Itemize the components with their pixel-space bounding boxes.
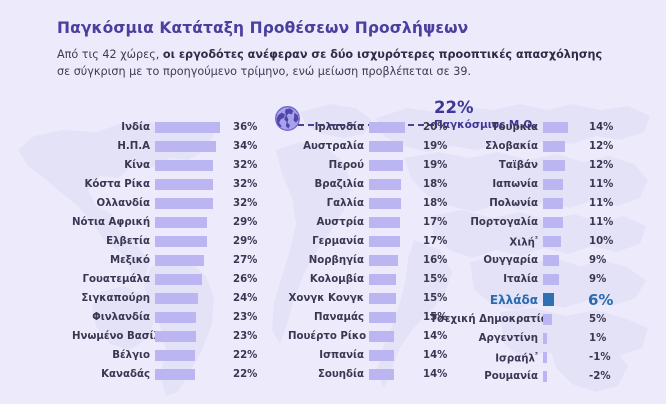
global-average-value: 22% [434, 100, 554, 117]
bar-track [155, 251, 227, 270]
ranking-column-3: Τουρκία14%Σλοβακία12%Ταϊβάν12%Ιαπωνία11%… [430, 118, 613, 386]
value-label: 11% [583, 198, 613, 209]
bar-track [155, 308, 227, 327]
ranking-row: Νορβηγία16% [288, 251, 447, 270]
ranking-column-2: Ιρλανδία20%Αυστραλία19%Περού19%Βραζιλία1… [288, 118, 447, 384]
bar-track [369, 365, 417, 384]
bar-track [369, 308, 417, 327]
ranking-row: Πουέρτο Ρίκο14% [288, 327, 447, 346]
bar-track [369, 327, 417, 346]
subtitle-line2: σε σύγκριση με το προηγούμενο τρίμηνο, ε… [57, 65, 471, 78]
country-label: Νορβηγία [288, 255, 369, 266]
bar [155, 293, 198, 304]
bar [369, 369, 394, 380]
country-label: Χονγκ Κονγκ [288, 293, 369, 304]
value-label: 6% [583, 291, 613, 309]
country-label: Ισραήλ³ [430, 351, 543, 364]
ranking-row: Βέλγιο22% [72, 346, 257, 365]
ranking-row: Ρουμανία-2% [430, 367, 613, 386]
country-label: Πολωνία [430, 198, 543, 209]
bar-track [543, 348, 583, 367]
bar [369, 198, 401, 209]
footnote-marker: ² [535, 235, 538, 243]
bar [369, 293, 396, 304]
ranking-row: Ιρλανδία20% [288, 118, 447, 137]
country-label: Ελβετία [72, 236, 155, 247]
bar-track [369, 137, 417, 156]
bar-track [543, 175, 583, 194]
ranking-row: Πολωνία11% [430, 194, 613, 213]
country-label: Γαλλία [288, 198, 369, 209]
ranking-row: Ιταλία9% [430, 270, 613, 289]
bar-track [155, 270, 227, 289]
bar [369, 255, 398, 266]
ranking-row: Σουηδία14% [288, 365, 447, 384]
bar [369, 331, 394, 342]
bar [155, 198, 213, 209]
bar [155, 350, 195, 361]
value-label: 23% [227, 312, 257, 323]
country-label: Χιλή² [430, 235, 543, 248]
bar-track [369, 194, 417, 213]
bar-track [155, 194, 227, 213]
ranking-row: Χονγκ Κονγκ15% [288, 289, 447, 308]
ranking-row: Τουρκία14% [430, 118, 613, 137]
country-label: Σουηδία [288, 369, 369, 380]
bar-track [369, 118, 417, 137]
bar [543, 217, 563, 228]
ranking-row: Φινλανδία23% [72, 308, 257, 327]
country-label: Ιαπωνία [430, 179, 543, 190]
value-label: 24% [227, 293, 257, 304]
country-label: Ταϊβάν [430, 160, 543, 171]
bar-track [543, 270, 583, 289]
bar [155, 179, 213, 190]
country-label: Κόστα Ρίκα [72, 179, 155, 190]
country-label: Ηνωμένο Βασίλειο [72, 331, 155, 342]
ranking-row: Κολομβία15% [288, 270, 447, 289]
ranking-row: Ολλανδία32% [72, 194, 257, 213]
bar [543, 236, 561, 247]
bar [155, 122, 220, 133]
country-label: Γερμανία [288, 236, 369, 247]
value-label: 32% [227, 198, 257, 209]
ranking-row: Αργεντίνη1% [430, 329, 613, 348]
bar [369, 312, 396, 323]
bar [155, 160, 213, 171]
bar [369, 217, 400, 228]
ranking-row: Γερμανία17% [288, 232, 447, 251]
bar-track [155, 137, 227, 156]
country-label: Ουγγαρία [430, 255, 543, 266]
bar-track [369, 175, 417, 194]
country-label: Φινλανδία [72, 312, 155, 323]
bar [543, 314, 552, 325]
bar-track [155, 232, 227, 251]
bar-track [155, 327, 227, 346]
bar-track [155, 175, 227, 194]
bar [543, 122, 568, 133]
value-label: 32% [227, 179, 257, 190]
bar [369, 274, 396, 285]
bar [543, 371, 547, 382]
ranking-row: Χιλή²10% [430, 232, 613, 251]
ranking-row: Καναδάς22% [72, 365, 257, 384]
bar-track [543, 310, 583, 329]
subtitle-line1-bold: οι εργοδότες ανέφεραν σε δύο ισχυρότερες… [163, 48, 602, 61]
header: Παγκόσμια Κατάταξη Προθέσεων Προσλήψεων … [57, 20, 646, 81]
bar [155, 217, 207, 228]
bar-track [543, 213, 583, 232]
country-label: Γουατεμάλα [72, 274, 155, 285]
bar-track [369, 289, 417, 308]
bar [155, 255, 204, 266]
value-label: 29% [227, 217, 257, 228]
bar [543, 333, 547, 344]
ranking-row: Ελλάδα6% [430, 289, 613, 310]
country-label: Η.Π.Α [72, 141, 155, 152]
bar-track [543, 367, 583, 386]
bar [543, 274, 559, 285]
value-label: 12% [583, 160, 613, 171]
bar [155, 236, 207, 247]
ranking-row: Ελβετία29% [72, 232, 257, 251]
value-label: 23% [227, 331, 257, 342]
ranking-row: Αυστραλία19% [288, 137, 447, 156]
bar-track [155, 365, 227, 384]
country-label: Αργεντίνη [430, 333, 543, 344]
bar [155, 369, 195, 380]
ranking-row: Πορτογαλία11% [430, 213, 613, 232]
bar [155, 141, 216, 152]
bar-track [369, 156, 417, 175]
value-label: -2% [583, 371, 611, 382]
ranking-row: Περού19% [288, 156, 447, 175]
country-label: Κίνα [72, 160, 155, 171]
country-label: Κολομβία [288, 274, 369, 285]
ranking-row: Σλοβακία12% [430, 137, 613, 156]
bar-track [369, 232, 417, 251]
ranking-row: Αυστρία17% [288, 213, 447, 232]
country-label: Ολλανδία [72, 198, 155, 209]
value-label: 14% [583, 122, 613, 133]
country-label: Ρουμανία [430, 371, 543, 382]
country-label: Νότια Αφρική [72, 217, 155, 228]
country-label: Αυστρία [288, 217, 369, 228]
value-label: 32% [227, 160, 257, 171]
page-title: Παγκόσμια Κατάταξη Προθέσεων Προσλήψεων [57, 20, 646, 37]
value-label: 1% [583, 333, 606, 344]
value-label: 27% [227, 255, 257, 266]
bar [543, 141, 565, 152]
bar-track [155, 346, 227, 365]
ranking-row: Ηνωμένο Βασίλειο23% [72, 327, 257, 346]
bar [369, 160, 403, 171]
country-label: Σλοβακία [430, 141, 543, 152]
value-label: 9% [583, 255, 606, 266]
bar-track [369, 213, 417, 232]
value-label: 12% [583, 141, 613, 152]
ranking-row: Η.Π.Α34% [72, 137, 257, 156]
bar [543, 160, 565, 171]
bar-track [155, 156, 227, 175]
country-label: Μεξικό [72, 255, 155, 266]
bar-track [155, 118, 227, 137]
value-label: 22% [227, 369, 257, 380]
country-label: Τσεχική Δημοκρατία [430, 314, 543, 325]
value-label: 36% [227, 122, 257, 133]
ranking-row: Κίνα32% [72, 156, 257, 175]
bar-track [543, 118, 583, 137]
ranking-row: Μεξικό27% [72, 251, 257, 270]
bar-track [543, 232, 583, 251]
footnote-marker: ³ [535, 351, 538, 359]
bar-track [543, 290, 583, 309]
country-label: Περού [288, 160, 369, 171]
country-label: Ιταλία [430, 274, 543, 285]
subtitle-line1-plain: Από τις 42 χώρες, [57, 48, 163, 61]
ranking-row: Ουγγαρία9% [430, 251, 613, 270]
value-label: 5% [583, 314, 606, 325]
value-label: 11% [583, 179, 613, 190]
country-label: Βέλγιο [72, 350, 155, 361]
ranking-row: Ινδία36% [72, 118, 257, 137]
ranking-row: Νότια Αφρική29% [72, 213, 257, 232]
country-label: Πουέρτο Ρίκο [288, 331, 369, 342]
ranking-row: Τσεχική Δημοκρατία5% [430, 310, 613, 329]
bar-track [543, 194, 583, 213]
country-label: Καναδάς [72, 369, 155, 380]
country-label: Ισπανία [288, 350, 369, 361]
ranking-row: Σιγκαπούρη24% [72, 289, 257, 308]
infographic-canvas: Παγκόσμια Κατάταξη Προθέσεων Προσλήψεων … [0, 0, 666, 404]
bar [155, 312, 196, 323]
value-label: 11% [583, 217, 613, 228]
ranking-row: Ιαπωνία11% [430, 175, 613, 194]
bar [155, 274, 202, 285]
bar [369, 179, 401, 190]
ranking-row: Παναμάς15% [288, 308, 447, 327]
bar-track [155, 213, 227, 232]
bar [155, 331, 196, 342]
country-label: Τουρκία [430, 122, 543, 133]
bar [369, 236, 400, 247]
bar-track [543, 156, 583, 175]
bar [543, 255, 559, 266]
country-label: Σιγκαπούρη [72, 293, 155, 304]
value-label: 22% [227, 350, 257, 361]
bar [369, 122, 405, 133]
country-label: Αυστραλία [288, 141, 369, 152]
value-label: 26% [227, 274, 257, 285]
country-label: Ιρλανδία [288, 122, 369, 133]
bar [369, 141, 403, 152]
ranking-row: Γαλλία18% [288, 194, 447, 213]
value-label: 34% [227, 141, 257, 152]
value-label: -1% [583, 352, 611, 363]
bar-track [543, 329, 583, 348]
bar [543, 198, 563, 209]
country-label: Ελλάδα [430, 293, 543, 307]
bar-track [369, 346, 417, 365]
ranking-row: Κόστα Ρίκα32% [72, 175, 257, 194]
ranking-row: Βραζιλία18% [288, 175, 447, 194]
ranking-row: Ισραήλ³-1% [430, 348, 613, 367]
value-label: 10% [583, 236, 613, 247]
value-label: 29% [227, 236, 257, 247]
bar [543, 352, 547, 363]
ranking-row: Γουατεμάλα26% [72, 270, 257, 289]
ranking-row: Ισπανία14% [288, 346, 447, 365]
bar [543, 179, 563, 190]
subtitle: Από τις 42 χώρες, οι εργοδότες ανέφεραν … [57, 46, 646, 81]
country-label: Παναμάς [288, 312, 369, 323]
country-label: Ινδία [72, 122, 155, 133]
ranking-column-1: Ινδία36%Η.Π.Α34%Κίνα32%Κόστα Ρίκα32%Ολλα… [72, 118, 257, 384]
value-label: 9% [583, 274, 606, 285]
bar [369, 350, 394, 361]
bar-highlight [543, 293, 554, 306]
bar-track [369, 251, 417, 270]
country-label: Πορτογαλία [430, 217, 543, 228]
bar-track [369, 270, 417, 289]
bar-track [155, 289, 227, 308]
country-label: Βραζιλία [288, 179, 369, 190]
bar-track [543, 137, 583, 156]
bar-track [543, 251, 583, 270]
ranking-row: Ταϊβάν12% [430, 156, 613, 175]
